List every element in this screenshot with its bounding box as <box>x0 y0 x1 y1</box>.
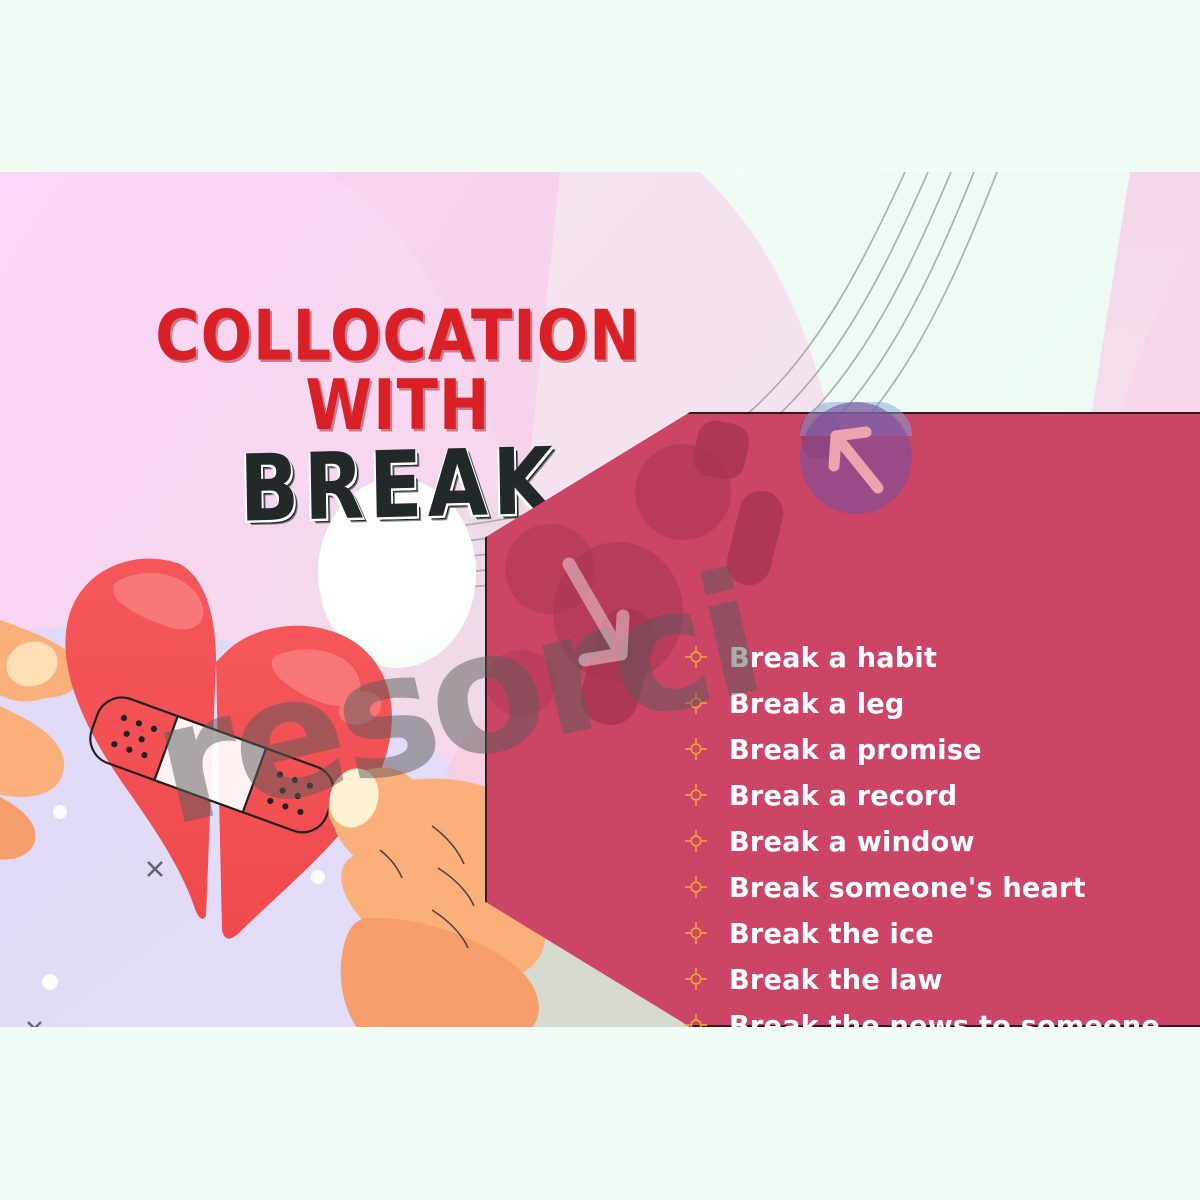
poster-canvas: COLLOCATION WITH BREAK <box>0 0 1200 1200</box>
arrow-up-left-icon <box>800 402 912 514</box>
list-item-label: Break a window <box>729 825 975 858</box>
list-item-label: Break someone's heart <box>729 871 1086 904</box>
artboard: COLLOCATION WITH BREAK <box>0 172 1200 1027</box>
panel-splotch <box>722 486 788 590</box>
crosshair-target-icon <box>685 738 707 760</box>
panel-splotch <box>635 444 731 540</box>
crosshair-target-icon <box>685 876 707 898</box>
list-item-label: Break a habit <box>729 641 937 674</box>
crosshair-target-icon <box>685 1014 707 1027</box>
list-item[interactable]: Break a record <box>685 772 1173 818</box>
list-item-label: Break the law <box>729 963 943 996</box>
list-item-label: Break a leg <box>729 687 904 720</box>
crosshair-target-icon <box>685 968 707 990</box>
list-item[interactable]: Break the news to someone <box>685 1002 1173 1027</box>
list-item-label: Break the news to someone <box>729 1009 1160 1028</box>
list-item[interactable]: Break the ice <box>685 910 1173 956</box>
panel-splotch <box>505 524 595 614</box>
list-item[interactable]: Break a window <box>685 818 1173 864</box>
list-item[interactable]: Break a promise <box>685 726 1173 772</box>
list-item[interactable]: Break someone's heart <box>685 864 1173 910</box>
collocation-panel: Break a habit Break a leg Break a promis… <box>485 412 1200 1027</box>
list-item[interactable]: Break a habit <box>685 634 1173 680</box>
collocation-list: Break a habit Break a leg Break a promis… <box>685 634 1173 1027</box>
crosshair-target-icon <box>685 922 707 944</box>
crosshair-target-icon <box>685 646 707 668</box>
list-item[interactable]: Break a leg <box>685 680 1173 726</box>
list-item-label: Break a promise <box>729 733 982 766</box>
list-item-label: Break the ice <box>729 917 934 950</box>
broken-heart-illustration <box>0 502 560 1027</box>
crosshair-target-icon <box>685 830 707 852</box>
crosshair-target-icon <box>685 784 707 806</box>
list-item-label: Break a record <box>729 779 957 812</box>
panel-splotch <box>486 650 556 716</box>
list-item[interactable]: Break the law <box>685 956 1173 1002</box>
crosshair-target-icon <box>685 692 707 714</box>
